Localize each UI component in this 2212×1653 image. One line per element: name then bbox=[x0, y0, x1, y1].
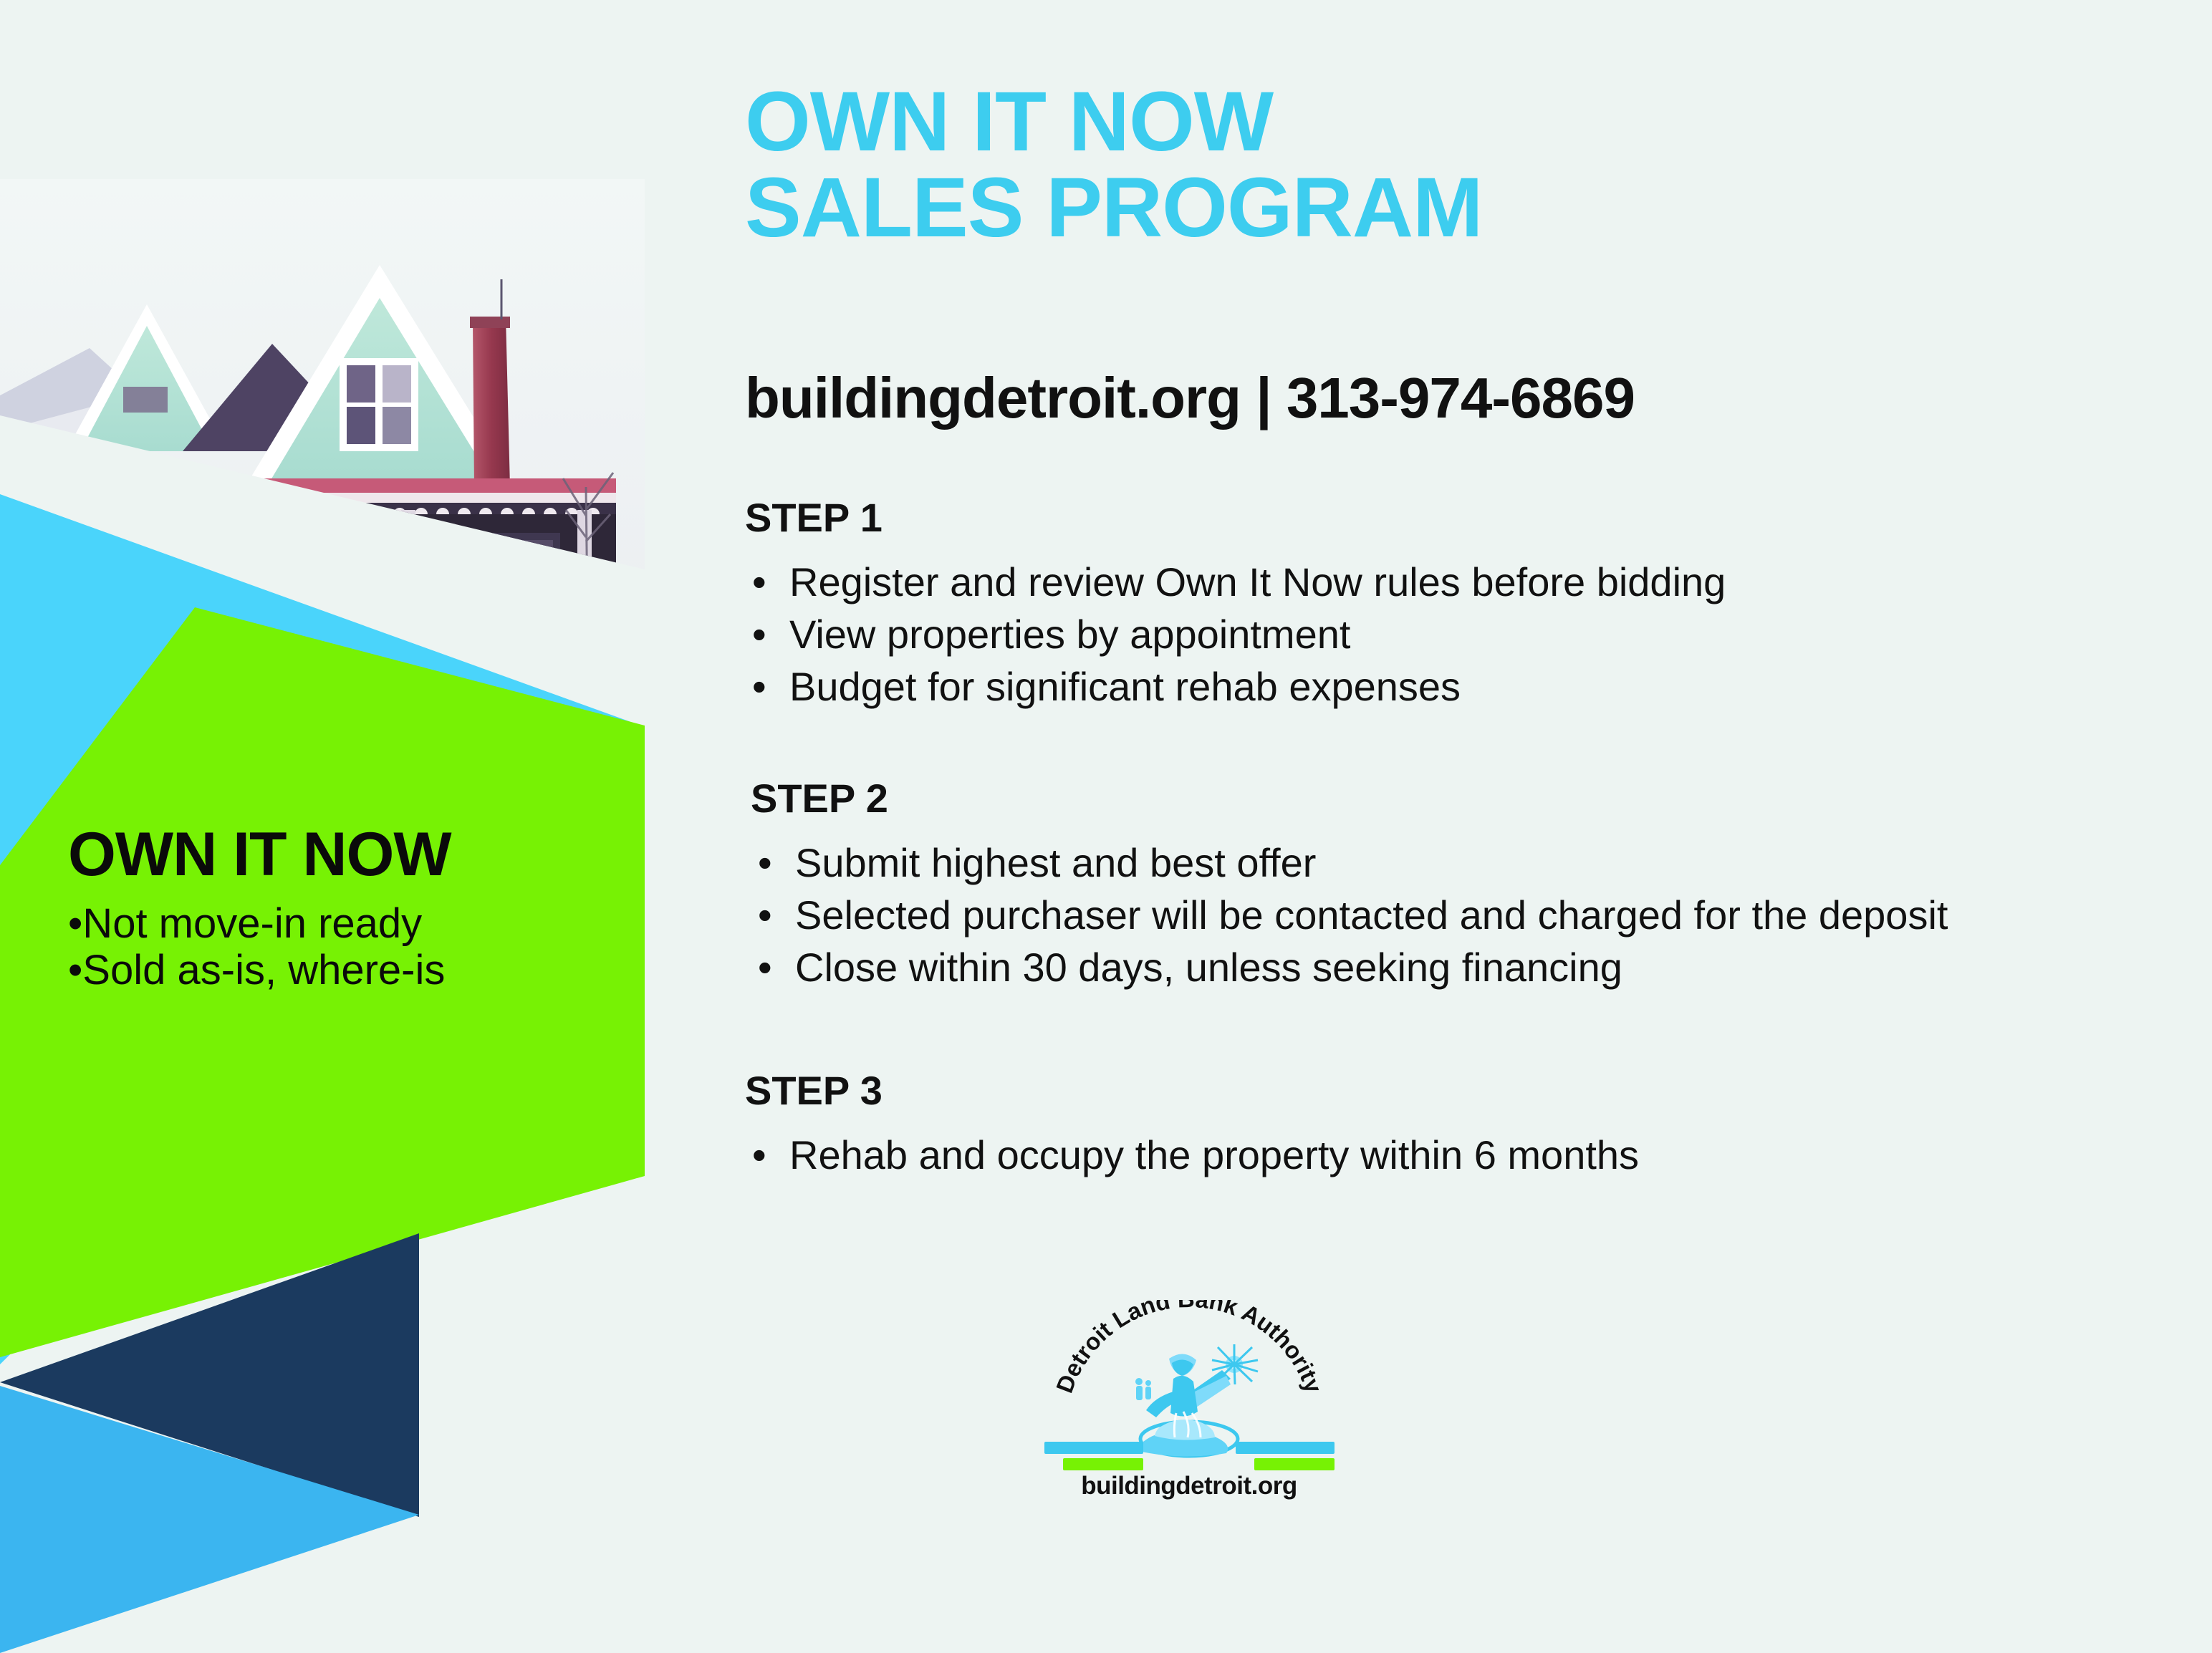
list-item: •View properties by appointment bbox=[745, 609, 2149, 661]
list-item: •Submit highest and best offer bbox=[751, 837, 2155, 890]
bullet-icon: • bbox=[758, 890, 772, 942]
list-item-label: Rehab and occupy the property within 6 m… bbox=[789, 1132, 1639, 1177]
list-item-label: Close within 30 days, unless seeking fin… bbox=[795, 945, 1622, 990]
headline-line-2: SALES PROGRAM bbox=[745, 165, 1482, 251]
step-1-heading: STEP 1 bbox=[745, 494, 2149, 541]
bullet-icon: • bbox=[752, 661, 766, 713]
ribbon-bullet-2: •Sold as-is, where-is bbox=[68, 948, 630, 994]
logo-url[interactable]: buildingdetroit.org bbox=[1032, 1472, 1347, 1500]
ribbon-title: OWN IT NOW bbox=[68, 824, 630, 885]
bullet-icon: • bbox=[752, 1129, 766, 1182]
list-item-label: Budget for significant rehab expenses bbox=[789, 664, 1461, 709]
step-3-heading: STEP 3 bbox=[745, 1067, 2149, 1114]
logo-bar-cyan bbox=[1044, 1442, 1143, 1454]
step-3-list: •Rehab and occupy the property within 6 … bbox=[745, 1129, 2149, 1182]
content-column: OWN IT NOW SALES PROGRAM buildingdetroit… bbox=[745, 0, 2178, 1653]
logo-bar-green bbox=[1254, 1458, 1335, 1470]
step-2-block: STEP 2 •Submit highest and best offer •S… bbox=[745, 775, 2155, 993]
ribbon-callout: OWN IT NOW •Not move-in ready •Sold as-i… bbox=[0, 824, 630, 994]
bullet-icon: • bbox=[752, 556, 766, 609]
list-item: •Register and review Own It Now rules be… bbox=[745, 556, 2149, 609]
step-3-block: STEP 3 •Rehab and occupy the property wi… bbox=[745, 1067, 2149, 1182]
step-1-block: STEP 1 •Register and review Own It Now r… bbox=[745, 494, 2149, 713]
logo-bars-left bbox=[1044, 1442, 1143, 1470]
detroit-land-bank-authority-logo: Detroit Land Bank Authority bbox=[1032, 1300, 1347, 1515]
bullet-icon: • bbox=[758, 837, 772, 890]
step-1-list: •Register and review Own It Now rules be… bbox=[745, 556, 2149, 713]
list-item-label: Register and review Own It Now rules bef… bbox=[789, 559, 1726, 604]
list-item: •Close within 30 days, unless seeking fi… bbox=[751, 942, 2155, 994]
list-item-label: Selected purchaser will be contacted and… bbox=[795, 892, 1948, 938]
list-item: •Rehab and occupy the property within 6 … bbox=[745, 1129, 2149, 1182]
logo-bar-green bbox=[1063, 1458, 1143, 1470]
ribbon-bullet-1: •Not move-in ready bbox=[68, 901, 630, 948]
step-2-heading: STEP 2 bbox=[751, 775, 2155, 821]
list-item-label: View properties by appointment bbox=[789, 612, 1350, 657]
contact-info[interactable]: buildingdetroit.org | 313-974-6869 bbox=[745, 365, 1635, 431]
step-2-list: •Submit highest and best offer •Selected… bbox=[751, 837, 2155, 993]
logo-bar-cyan bbox=[1236, 1442, 1335, 1454]
list-item: •Budget for significant rehab expenses bbox=[745, 661, 2149, 713]
list-item: •Selected purchaser will be contacted an… bbox=[751, 890, 2155, 942]
headline-line-1: OWN IT NOW bbox=[745, 79, 1482, 165]
page-title: OWN IT NOW SALES PROGRAM bbox=[745, 79, 1482, 251]
logo-bars-right bbox=[1236, 1442, 1335, 1470]
list-item-label: Submit highest and best offer bbox=[795, 840, 1316, 885]
flyer-canvas: OWN IT NOW •Not move-in ready •Sold as-i… bbox=[0, 0, 2212, 1653]
bullet-icon: • bbox=[758, 942, 772, 994]
bullet-icon: • bbox=[752, 609, 766, 661]
